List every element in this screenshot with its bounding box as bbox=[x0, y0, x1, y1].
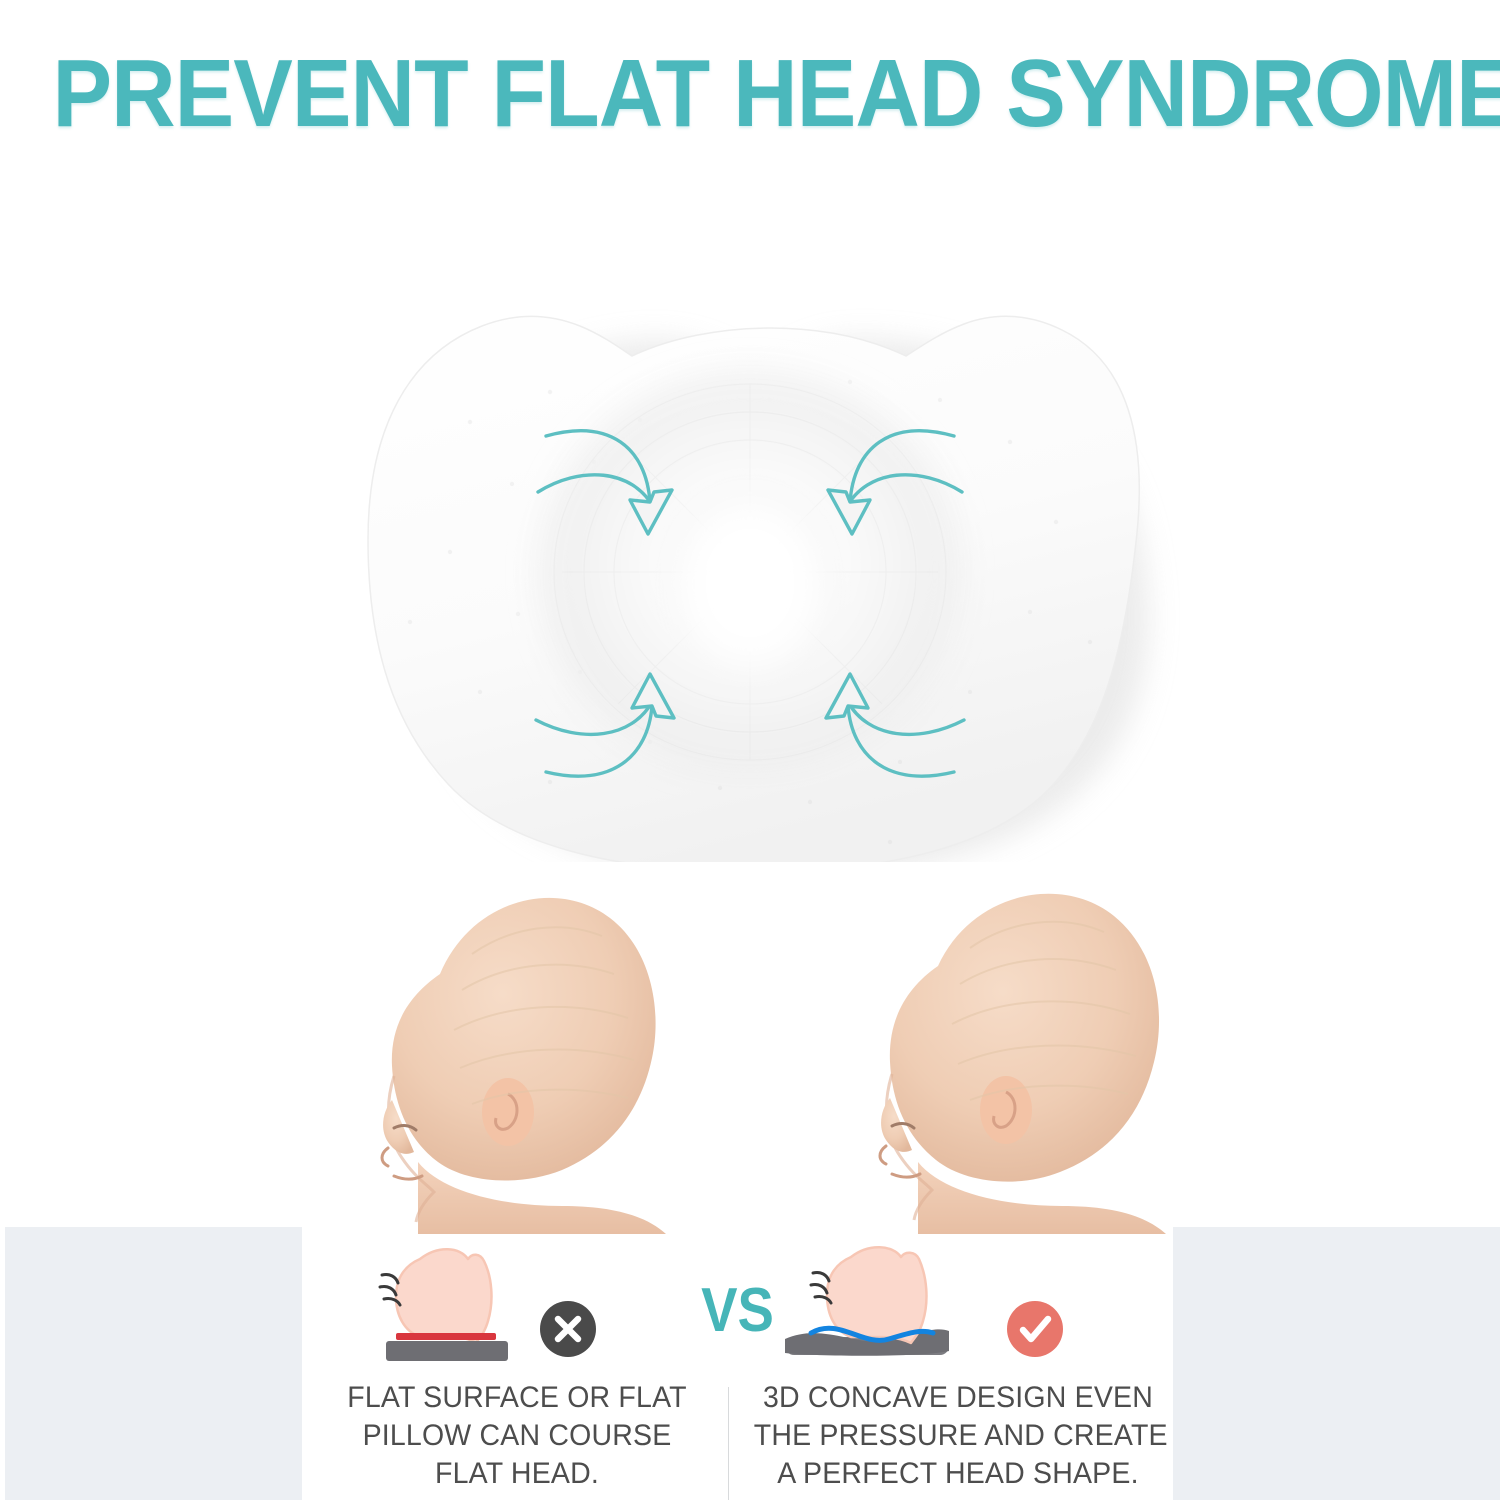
caption-line: FLAT HEAD. bbox=[313, 1455, 722, 1493]
concave-design-caption: 3D CONCAVE DESIGN EVEN THE PRESSURE AND … bbox=[754, 1379, 1163, 1492]
baby-mouth bbox=[892, 1174, 920, 1177]
baby-ear bbox=[482, 1078, 534, 1146]
pressure-indicator bbox=[396, 1333, 496, 1340]
pillow-center-hole bbox=[654, 472, 846, 696]
baby-nose bbox=[382, 1148, 388, 1166]
baby-head-profile-before bbox=[322, 862, 682, 1234]
caption-line: 3D CONCAVE DESIGN EVEN bbox=[754, 1379, 1163, 1417]
comparison-column-concave-design: 3D CONCAVE DESIGN EVEN THE PRESSURE AND … bbox=[743, 1227, 1173, 1500]
baby-mouth bbox=[394, 1176, 422, 1179]
baby-head-on-flat-pillow-icon bbox=[358, 1243, 568, 1363]
comparison-column-flat-surface: FLAT SURFACE OR FLAT PILLOW CAN COURSE F… bbox=[302, 1227, 732, 1500]
before-after-photos bbox=[0, 862, 1500, 1234]
cross-badge bbox=[540, 1301, 596, 1357]
baby-head bbox=[890, 894, 1159, 1182]
caption-line: A PERFECT HEAD SHAPE. bbox=[754, 1455, 1163, 1493]
flat-surface-caption: FLAT SURFACE OR FLAT PILLOW CAN COURSE F… bbox=[313, 1379, 722, 1492]
baby-head-profile-after bbox=[822, 862, 1182, 1234]
close-icon bbox=[558, 1319, 578, 1339]
pillow-illustration bbox=[250, 222, 1250, 862]
check-badge bbox=[1007, 1301, 1063, 1357]
concave-design-icon-row bbox=[743, 1243, 1173, 1363]
page-title: PREVENT FLAT HEAD SYNDROME bbox=[53, 44, 1448, 145]
head-shape bbox=[396, 1249, 491, 1343]
left-side-panel bbox=[5, 1227, 302, 1500]
hero-product-image bbox=[250, 222, 1250, 862]
caption-line: PILLOW CAN COURSE bbox=[313, 1417, 722, 1455]
caption-line: THE PRESSURE AND CREATE bbox=[754, 1417, 1163, 1455]
baby-ear bbox=[980, 1076, 1032, 1144]
baby-head-on-concave-pillow-icon bbox=[765, 1243, 995, 1363]
flat-pillow-surface bbox=[386, 1341, 508, 1361]
check-icon bbox=[1023, 1319, 1048, 1339]
comparison-section: VS bbox=[302, 1227, 1173, 1500]
flat-surface-icon-row bbox=[302, 1243, 732, 1363]
right-side-panel bbox=[1173, 1227, 1500, 1500]
baby-nose bbox=[880, 1146, 886, 1164]
caption-line: FLAT SURFACE OR FLAT bbox=[313, 1379, 722, 1417]
product-infographic: PREVENT FLAT HEAD SYNDROME bbox=[0, 0, 1500, 1500]
